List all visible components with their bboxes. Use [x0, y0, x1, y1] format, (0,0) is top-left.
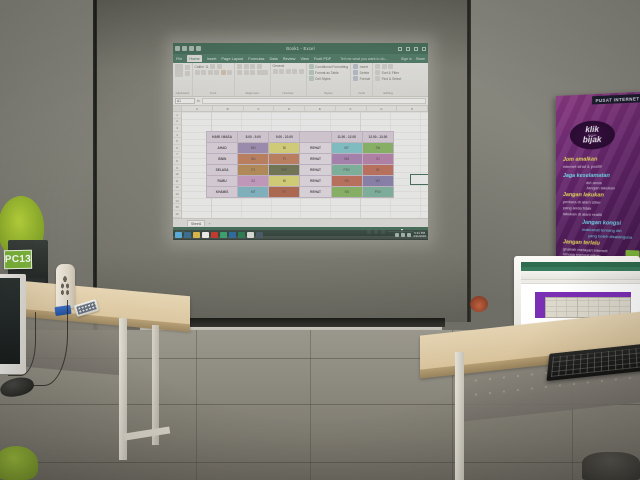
merge-center-icon[interactable]	[257, 70, 268, 75]
break-cell: REHAT	[300, 165, 331, 176]
insert-cells-label[interactable]: Insert	[360, 65, 368, 69]
column-header-a[interactable]: A	[182, 106, 213, 111]
tab-foxit-pdf[interactable]: Foxit PDF	[314, 56, 331, 61]
tab-formulas[interactable]: Formulas	[248, 56, 264, 61]
font-size-box[interactable]: 11	[205, 65, 208, 69]
cell-styles-label[interactable]: Cell Styles	[315, 77, 331, 81]
break-cell: REHAT	[300, 154, 331, 165]
align-bottom-icon[interactable]	[250, 64, 255, 69]
increase-decimal-icon[interactable]	[292, 69, 297, 74]
row-header[interactable]: 11	[173, 178, 181, 185]
column-header-b[interactable]: B	[213, 106, 244, 111]
subject-cell: PI	[269, 154, 300, 165]
window-title: Book1 - Excel	[173, 46, 428, 51]
system-tray[interactable]: 5:41 PM 2/11/2018	[395, 232, 428, 238]
excel-title-bar: Book1 - Excel	[173, 43, 428, 54]
day-cell: AHAD	[207, 143, 238, 154]
left-desk-leg	[152, 325, 159, 445]
column-header-g[interactable]: G	[367, 106, 398, 111]
subject-cell: PSV	[331, 165, 362, 176]
insert-cells-icon[interactable]	[353, 64, 358, 69]
right-desk-leg	[455, 352, 464, 480]
green-chair	[0, 446, 38, 480]
table-row: SELASA PJ RBT REHAT PSV BI	[207, 165, 394, 176]
right-chair	[582, 452, 640, 480]
autosum-icon[interactable]	[375, 64, 380, 69]
delete-cells-label[interactable]: Delete	[360, 71, 370, 75]
row-header[interactable]: 4	[173, 132, 181, 139]
ribbon-group-editing[interactable]: Sort & Filter Find & Select Editing	[373, 63, 403, 96]
subject-cell: SN	[331, 176, 362, 187]
conditional-formatting-icon[interactable]	[309, 64, 314, 69]
underline-icon[interactable]	[208, 70, 213, 75]
find-select-icon[interactable]	[388, 64, 393, 69]
table-row: ISNIN SN PI REHAT BM SJ	[207, 154, 394, 165]
bold-icon[interactable]	[195, 70, 200, 75]
ribbon[interactable]: Clipboard Calibri 11	[173, 63, 428, 97]
table-row: RABU SJ BI REHAT SN MZ	[207, 176, 394, 187]
logo-line-2: bijak	[583, 136, 602, 143]
table-row: KHAMIS MT PJ REHAT SN PSV	[207, 187, 394, 198]
banner-text: Jaga keselamatan	[563, 174, 610, 180]
sign-in-link[interactable]: Sign in	[401, 57, 412, 61]
tab-page-layout[interactable]: Page Layout	[221, 56, 243, 61]
subject-cell: PJ	[238, 165, 269, 176]
row-header[interactable]: 9	[173, 165, 181, 172]
column-header-h[interactable]: H	[397, 106, 428, 111]
subject-cell: BM	[238, 143, 269, 154]
decrease-decimal-icon[interactable]	[299, 69, 304, 74]
ribbon-display-options-icon[interactable]	[398, 47, 402, 51]
group-label-alignment: Alignment	[237, 91, 268, 95]
ribbon-group-styles[interactable]: Conditional Formatting Format as Table C…	[307, 63, 352, 96]
network-icon[interactable]	[401, 233, 405, 237]
mail-icon[interactable]	[220, 232, 227, 239]
subject-cell: MZ	[362, 176, 393, 187]
name-box[interactable]: A1	[175, 98, 195, 104]
chrome-icon[interactable]	[202, 232, 209, 239]
ribbon-tab-strip[interactable]: File Home Insert Page Layout Formulas Da…	[173, 54, 428, 63]
percent-icon[interactable]	[279, 69, 284, 74]
subject-cell: MT	[238, 187, 269, 198]
tab-home[interactable]: Home	[187, 55, 201, 62]
banner-text: internet sihat & positif	[563, 165, 602, 169]
day-cell: RABU	[207, 176, 238, 187]
ribbon-group-font[interactable]: Calibri 11 Font	[193, 63, 236, 96]
taskbar-clock[interactable]: 5:41 PM 2/11/2018	[413, 232, 426, 238]
selected-cell[interactable]	[410, 174, 428, 185]
decorative-plant	[470, 296, 488, 312]
orientation-icon[interactable]	[257, 64, 262, 69]
comma-icon[interactable]	[286, 69, 291, 74]
sheet-tab-bar[interactable]: Sheet1 +	[173, 218, 428, 227]
subject-cell: PSV	[362, 187, 393, 198]
ribbon-group-clipboard[interactable]: Clipboard	[173, 63, 193, 96]
align-right-icon[interactable]	[250, 70, 255, 75]
group-label-clipboard: Clipboard	[175, 91, 190, 95]
sheet-tab-sheet1[interactable]: Sheet1	[187, 220, 205, 226]
add-sheet-button[interactable]: +	[208, 221, 210, 226]
row-header[interactable]: 1	[173, 112, 181, 119]
column-header-c[interactable]: C	[244, 106, 275, 111]
restore-icon[interactable]	[414, 47, 418, 51]
sort-filter-label[interactable]: Sort & Filter	[382, 71, 399, 75]
row-header[interactable]: 12	[173, 185, 181, 192]
volume-icon[interactable]	[407, 233, 411, 237]
subject-cell: SN	[331, 187, 362, 198]
subject-cell: BI	[362, 165, 393, 176]
clear-icon[interactable]	[375, 76, 380, 81]
group-label-number: Number	[273, 91, 304, 95]
banner-text: perkara di alam siber	[563, 200, 601, 205]
tab-insert[interactable]: Insert	[207, 56, 217, 61]
subject-cell: SN	[362, 143, 393, 154]
clock-date: 2/11/2018	[413, 234, 426, 238]
klik-dengan-bijak-banner: PUSAT INTERNET klik dengan bijak Jom ama…	[556, 92, 640, 263]
column-header-d[interactable]: D	[274, 106, 305, 111]
banner-header-bar: PUSAT INTERNET	[593, 94, 640, 105]
timeslot-header-3: 11.00 - 12.00	[331, 132, 362, 143]
minimize-icon[interactable]	[406, 47, 410, 51]
projected-excel-window: Book1 - Excel File Home Insert Page Layo…	[173, 43, 428, 239]
excel-icon[interactable]	[238, 232, 245, 239]
find-select-label[interactable]: Find & Select	[382, 77, 402, 81]
day-cell: ISNIN	[207, 154, 238, 165]
align-center-icon[interactable]	[244, 70, 249, 75]
group-label-font: Font	[195, 91, 233, 95]
timeslot-header-4: 12.00 - 13.00	[362, 132, 393, 143]
format-cells-label[interactable]: Format	[360, 77, 370, 81]
align-middle-icon[interactable]	[244, 64, 249, 69]
tell-me-search[interactable]: Tell me what you want to do...	[340, 57, 387, 61]
font-name-box[interactable]: Calibri	[195, 65, 204, 69]
row-header[interactable]: 2	[173, 119, 181, 126]
ribbon-group-cells[interactable]: Insert Delete Format Cells	[351, 63, 373, 96]
edge-icon[interactable]	[184, 232, 191, 239]
subject-cell: SN	[238, 154, 269, 165]
row-header[interactable]: 8	[173, 158, 181, 165]
file-explorer-icon[interactable]	[193, 232, 200, 239]
row-header[interactable]: 7	[173, 152, 181, 159]
spreadsheet-grid[interactable]: A B C D E F G H 1 2 3 4 5 6 7 8	[173, 106, 428, 218]
tab-file[interactable]: File	[176, 56, 182, 61]
break-cell: REHAT	[300, 143, 331, 154]
tab-view[interactable]: View	[300, 56, 308, 61]
table-row: AHAD BM BI REHAT MT SN	[207, 143, 394, 154]
day-cell: KHAMIS	[207, 187, 238, 198]
currency-icon[interactable]	[273, 69, 278, 74]
format-cells-icon[interactable]	[353, 76, 358, 81]
timeslot-header-break	[300, 132, 331, 143]
day-cell: SELASA	[207, 165, 238, 176]
group-label-cells: Cells	[353, 91, 370, 95]
cut-icon[interactable]	[185, 65, 190, 70]
banner-header-text: PUSAT INTERNET	[596, 96, 640, 103]
subject-cell: BI	[269, 176, 300, 187]
formula-bar[interactable]: A1 fx	[173, 97, 428, 106]
close-icon[interactable]	[422, 47, 426, 51]
grid-body[interactable]: 1 2 3 4 5 6 7 8 9 10 11 12 13 14 15 16	[173, 112, 428, 218]
ribbon-group-number[interactable]: General Number	[271, 63, 307, 96]
row-header[interactable]: 16	[173, 211, 181, 218]
subject-cell: BI	[269, 143, 300, 154]
pc13-label: PC13	[4, 250, 32, 269]
sheet-area[interactable]: HARI / MASA 8.00 - 9.00 9.00 - 10.00 11.…	[182, 112, 428, 218]
classroom-scene: Book1 - Excel File Home Insert Page Layo…	[0, 0, 640, 480]
align-top-icon[interactable]	[237, 64, 242, 69]
action-center-icon[interactable]	[395, 233, 399, 237]
tab-review[interactable]: Review	[283, 56, 296, 61]
decrease-font-icon[interactable]	[217, 64, 222, 69]
row-header[interactable]: 5	[173, 138, 181, 145]
aio-excel-ribbon	[521, 271, 640, 280]
conditional-formatting-label[interactable]: Conditional Formatting	[315, 65, 348, 69]
cell-styles-icon[interactable]	[309, 76, 314, 81]
timetable-table[interactable]: HARI / MASA 8.00 - 9.00 9.00 - 10.00 11.…	[206, 131, 394, 198]
function-icon[interactable]: fx	[197, 99, 200, 103]
row-header[interactable]: 14	[173, 198, 181, 205]
break-cell: REHAT	[300, 176, 331, 187]
increase-font-icon[interactable]	[210, 64, 215, 69]
banner-text: Jangan lakukan	[586, 186, 615, 190]
fill-color-icon[interactable]	[221, 70, 226, 75]
app-icon[interactable]	[256, 232, 263, 239]
column-header-e[interactable]: E	[305, 106, 336, 111]
table-header-row: HARI / MASA 8.00 - 9.00 9.00 - 10.00 11.…	[207, 132, 394, 143]
align-left-icon[interactable]	[237, 70, 242, 75]
banner-text: lakukan di alam realiti	[563, 212, 602, 217]
format-as-table-label[interactable]: Format as Table	[315, 71, 339, 75]
windows-taskbar[interactable]: 5:41 PM 2/11/2018	[173, 230, 428, 240]
tab-data[interactable]: Data	[269, 56, 277, 61]
timetable-corner: HARI / MASA	[207, 132, 238, 143]
borders-icon[interactable]	[214, 70, 219, 75]
row-header[interactable]: 13	[173, 191, 181, 198]
start-icon[interactable]	[175, 232, 182, 239]
row-headers[interactable]: 1 2 3 4 5 6 7 8 9 10 11 12 13 14 15 16	[173, 112, 182, 218]
delete-cells-icon[interactable]	[353, 70, 358, 75]
word-icon[interactable]	[229, 232, 236, 239]
klik-bijak-logo: klik dengan bijak	[570, 120, 615, 150]
banner-text: yang anda tidak	[563, 206, 591, 211]
browser-icon[interactable]	[247, 232, 254, 239]
row-header[interactable]: 6	[173, 145, 181, 152]
banner-text: Jom amalkan	[563, 158, 598, 164]
select-all-corner[interactable]	[173, 106, 182, 111]
row-header[interactable]: 15	[173, 204, 181, 211]
break-cell: REHAT	[300, 187, 331, 198]
share-button[interactable]: Share	[416, 57, 425, 61]
timeslot-header-2: 9.00 - 10.00	[269, 132, 300, 143]
group-label-styles: Styles	[309, 91, 349, 95]
group-label-editing: Editing	[375, 91, 401, 95]
number-format-select[interactable]: General	[273, 64, 285, 68]
row-header[interactable]: 3	[173, 125, 181, 132]
banner-text: yang boleh disalahguna	[588, 234, 632, 240]
account-area[interactable]: Sign in Share	[401, 57, 425, 61]
subject-cell: PJ	[269, 187, 300, 198]
fill-icon[interactable]	[375, 70, 380, 75]
subject-cell: SJ	[238, 176, 269, 187]
subject-cell: MT	[331, 143, 362, 154]
subject-cell: BM	[331, 154, 362, 165]
window-controls[interactable]	[398, 47, 426, 51]
row-header[interactable]: 10	[173, 171, 181, 178]
format-as-table-icon[interactable]	[309, 70, 314, 75]
italic-icon[interactable]	[201, 70, 206, 75]
pc13-label-text: PC13	[5, 254, 31, 265]
ribbon-group-alignment[interactable]: Alignment	[235, 63, 271, 96]
timeslot-header-1: 8.00 - 9.00	[238, 132, 269, 143]
subject-cell: RBT	[269, 165, 300, 176]
formula-input[interactable]	[202, 98, 426, 104]
subject-cell: SJ	[362, 154, 393, 165]
paste-icon[interactable]	[175, 64, 183, 77]
media-player-icon[interactable]	[211, 232, 218, 239]
column-header-f[interactable]: F	[336, 106, 367, 111]
copy-icon[interactable]	[185, 71, 190, 76]
sort-filter-icon[interactable]	[382, 64, 387, 69]
font-color-icon[interactable]	[227, 70, 232, 75]
